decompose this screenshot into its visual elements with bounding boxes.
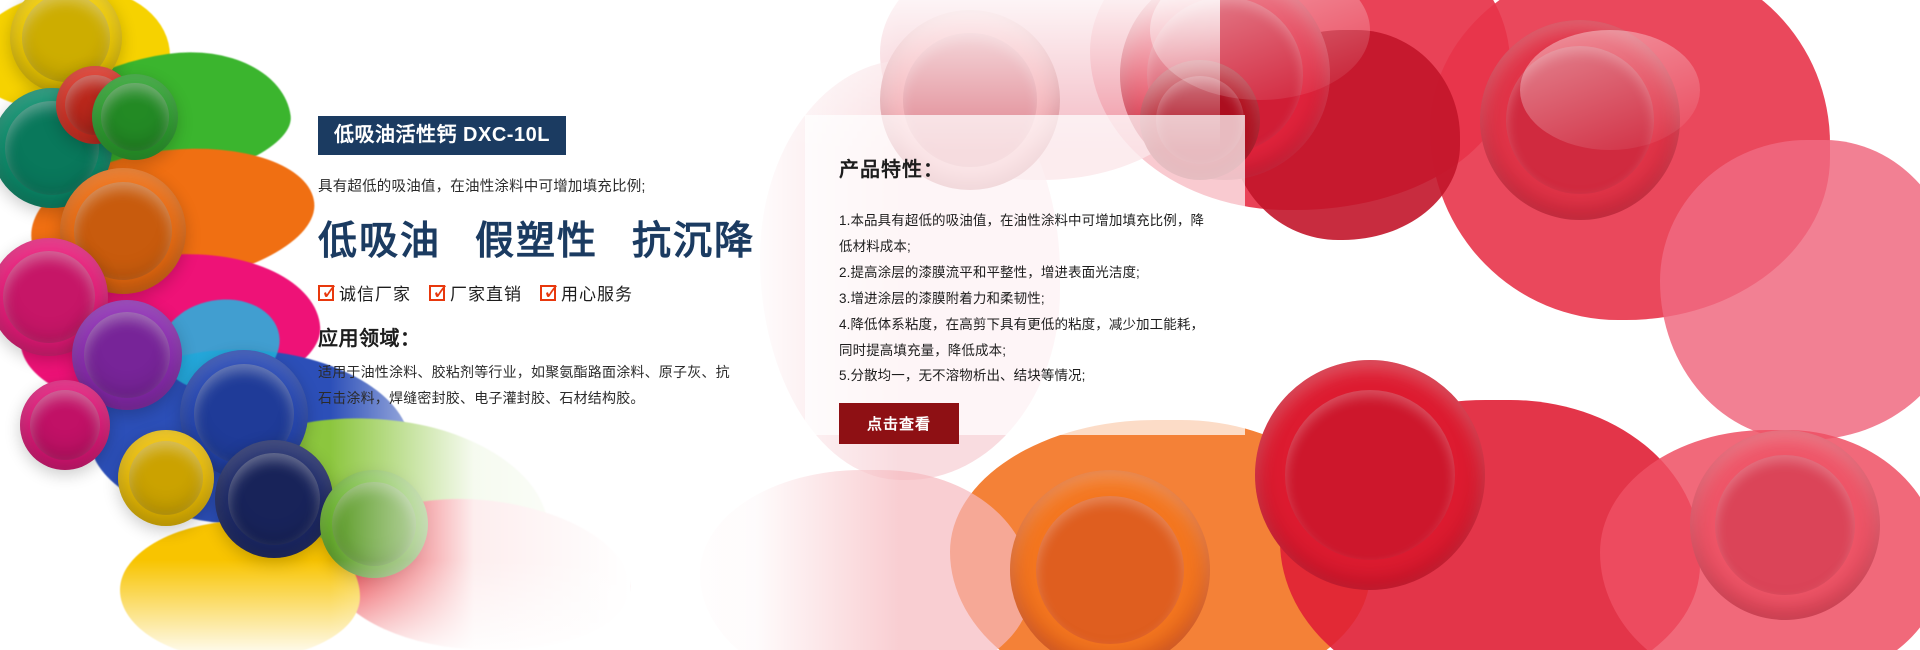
- checkbox-checked-icon: ✓: [540, 285, 556, 301]
- paint-can-teal: [0, 88, 112, 208]
- paint-can-green: [92, 74, 178, 160]
- paint-dish-orange: [1010, 470, 1210, 650]
- paint-smear-magenta: [15, 245, 325, 416]
- application-description: 适用于油性涂料、胶粘剂等行业，如聚氨酯路面涂料、原子灰、抗石击涂料，焊缝密封胶、…: [318, 360, 736, 412]
- paint-spill-deepred-mid: [1230, 30, 1460, 240]
- paint-can-pink: [0, 238, 108, 356]
- feature-item-2: 3.增进涂层的漆膜附着力和柔韧性;: [839, 286, 1211, 312]
- banner-left-content: 低吸油活性钙 DXC-10L 具有超低的吸油值，在油性涂料中可增加填充比例; 低…: [318, 116, 748, 412]
- paint-smear-cyan: [153, 290, 287, 399]
- feature-item-3: 4.降低体系粘度，在高剪下具有更低的粘度，减少加工能耗，同时提高填充量，降低成本…: [839, 312, 1211, 364]
- paint-can-magenta-2: [20, 380, 110, 470]
- paint-smear-red-lower: [323, 485, 637, 650]
- paint-can-yellow-2: [118, 430, 214, 526]
- trust-badge-list: ✓ 诚信厂家 ✓ 厂家直销 ✓ 用心服务: [318, 280, 748, 305]
- keyword-item-1: 假塑性: [475, 210, 598, 266]
- feature-item-4: 5.分散均一，无不溶物析出、结块等情况;: [839, 363, 1211, 389]
- paint-spill-orange-bottom: [950, 420, 1370, 650]
- paint-can-red: [56, 66, 134, 144]
- paint-can-purple: [72, 300, 182, 410]
- trust-badge-0: ✓ 诚信厂家: [318, 280, 411, 305]
- gloss-highlight-right: [1520, 30, 1700, 150]
- gloss-highlight-top: [1150, 0, 1370, 100]
- keyword-item-2: 抗沉降: [632, 210, 755, 266]
- product-features-panel: 产品特性： 1.本品具有超低的吸油值，在油性涂料中可增加填充比例，降低材料成本;…: [805, 115, 1245, 435]
- paint-dish-bottom-right: [1690, 430, 1880, 620]
- paint-spill-blush-bottomleft: [700, 470, 1030, 650]
- trust-badge-1: ✓ 厂家直销: [429, 280, 522, 305]
- paint-can-orange: [60, 168, 186, 294]
- keyword-item-0: 低吸油: [318, 210, 441, 266]
- checkbox-checked-icon: ✓: [318, 285, 334, 301]
- application-heading: 应用领域：: [318, 322, 748, 351]
- feature-item-1: 2.提高涂层的漆膜流平和平整性，增进表面光洁度;: [839, 260, 1211, 286]
- paint-smear-yellow-lower: [120, 520, 360, 650]
- product-title-badge: 低吸油活性钙 DXC-10L: [318, 116, 566, 155]
- paint-smear-orange: [24, 135, 322, 299]
- paint-spill-rose-bottom-right: [1600, 430, 1920, 650]
- paint-spill-red-right: [1430, 0, 1830, 320]
- paint-can-yellow: [10, 0, 122, 94]
- features-heading: 产品特性：: [839, 153, 1211, 182]
- paint-smear-green: [32, 38, 298, 202]
- trust-badge-label-2: 用心服务: [561, 280, 633, 305]
- paint-spill-pink-right: [1660, 140, 1920, 440]
- view-details-button[interactable]: 点击查看: [839, 403, 959, 444]
- paint-dish-bottom-red: [1255, 360, 1485, 590]
- checkbox-checked-icon: ✓: [429, 285, 445, 301]
- paint-smear-lime: [210, 398, 560, 612]
- paint-spill-red-bottom: [1280, 400, 1700, 650]
- keyword-list: 低吸油 假塑性 抗沉降: [318, 210, 748, 266]
- paint-can-blue: [180, 350, 308, 478]
- product-subtitle: 具有超低的吸油值，在油性涂料中可增加填充比例;: [318, 175, 748, 196]
- left-bottom-fade-mask: [0, 560, 700, 650]
- paint-dish-right-red: [1480, 20, 1680, 220]
- paint-can-lime: [320, 470, 428, 578]
- trust-badge-label-0: 诚信厂家: [339, 280, 411, 305]
- paint-smear-yellow: [0, 0, 170, 110]
- feature-item-0: 1.本品具有超低的吸油值，在油性涂料中可增加填充比例，降低材料成本;: [839, 208, 1211, 260]
- paint-can-navy: [215, 440, 333, 558]
- features-list: 1.本品具有超低的吸油值，在油性涂料中可增加填充比例，降低材料成本; 2.提高涂…: [839, 208, 1211, 389]
- trust-badge-2: ✓ 用心服务: [540, 280, 633, 305]
- trust-badge-label-1: 厂家直销: [450, 280, 522, 305]
- banner-stage: 低吸油活性钙 DXC-10L 具有超低的吸油值，在油性涂料中可增加填充比例; 低…: [0, 0, 1920, 650]
